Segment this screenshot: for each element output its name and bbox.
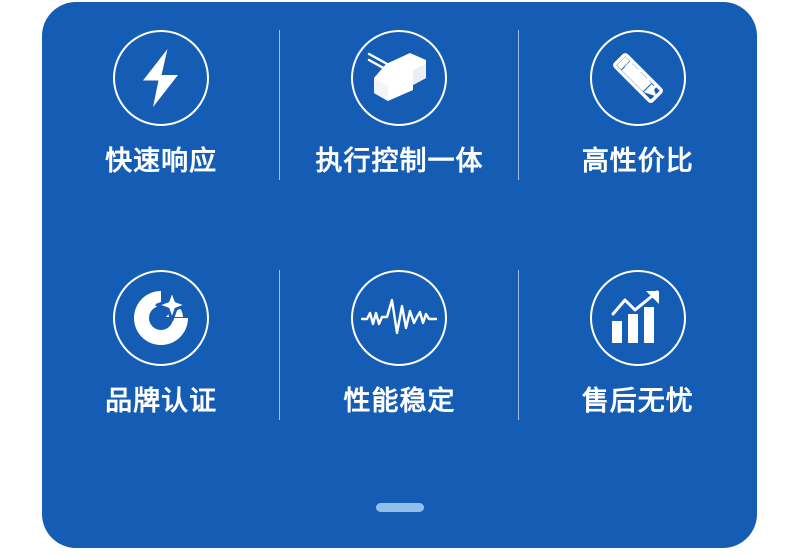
bar-chart-growth-icon: [590, 270, 686, 366]
feature-item-worry-free-service[interactable]: 售后无忧: [519, 242, 757, 482]
feature-grid: 快速响应 执行控制一体: [42, 2, 757, 482]
feature-item-brand-certified[interactable]: 品牌认证: [42, 242, 280, 482]
feature-item-integrated-actuator-control[interactable]: 执行控制一体: [280, 2, 518, 242]
actuator-device-icon: [351, 30, 447, 126]
feature-label: 快速响应: [105, 148, 217, 175]
feature-label: 性能稳定: [343, 388, 455, 415]
feature-item-stable-performance[interactable]: 性能稳定: [280, 242, 518, 482]
certification-sparkle-icon: [113, 270, 209, 366]
feature-card: 快速响应 执行控制一体: [42, 2, 757, 548]
feature-label: 执行控制一体: [315, 148, 483, 175]
feature-label: 品牌认证: [105, 388, 217, 415]
feature-label: 售后无忧: [582, 388, 694, 415]
pencil-ruler-icon: [590, 30, 686, 126]
page-indicator[interactable]: [376, 503, 424, 512]
waveform-icon: [351, 270, 447, 366]
feature-item-cost-effective[interactable]: 高性价比: [519, 2, 757, 242]
feature-label: 高性价比: [582, 148, 694, 175]
screenshot-root: 快速响应 执行控制一体: [0, 0, 800, 557]
lightning-bolt-icon: [113, 30, 209, 126]
feature-item-fast-response[interactable]: 快速响应: [42, 2, 280, 242]
